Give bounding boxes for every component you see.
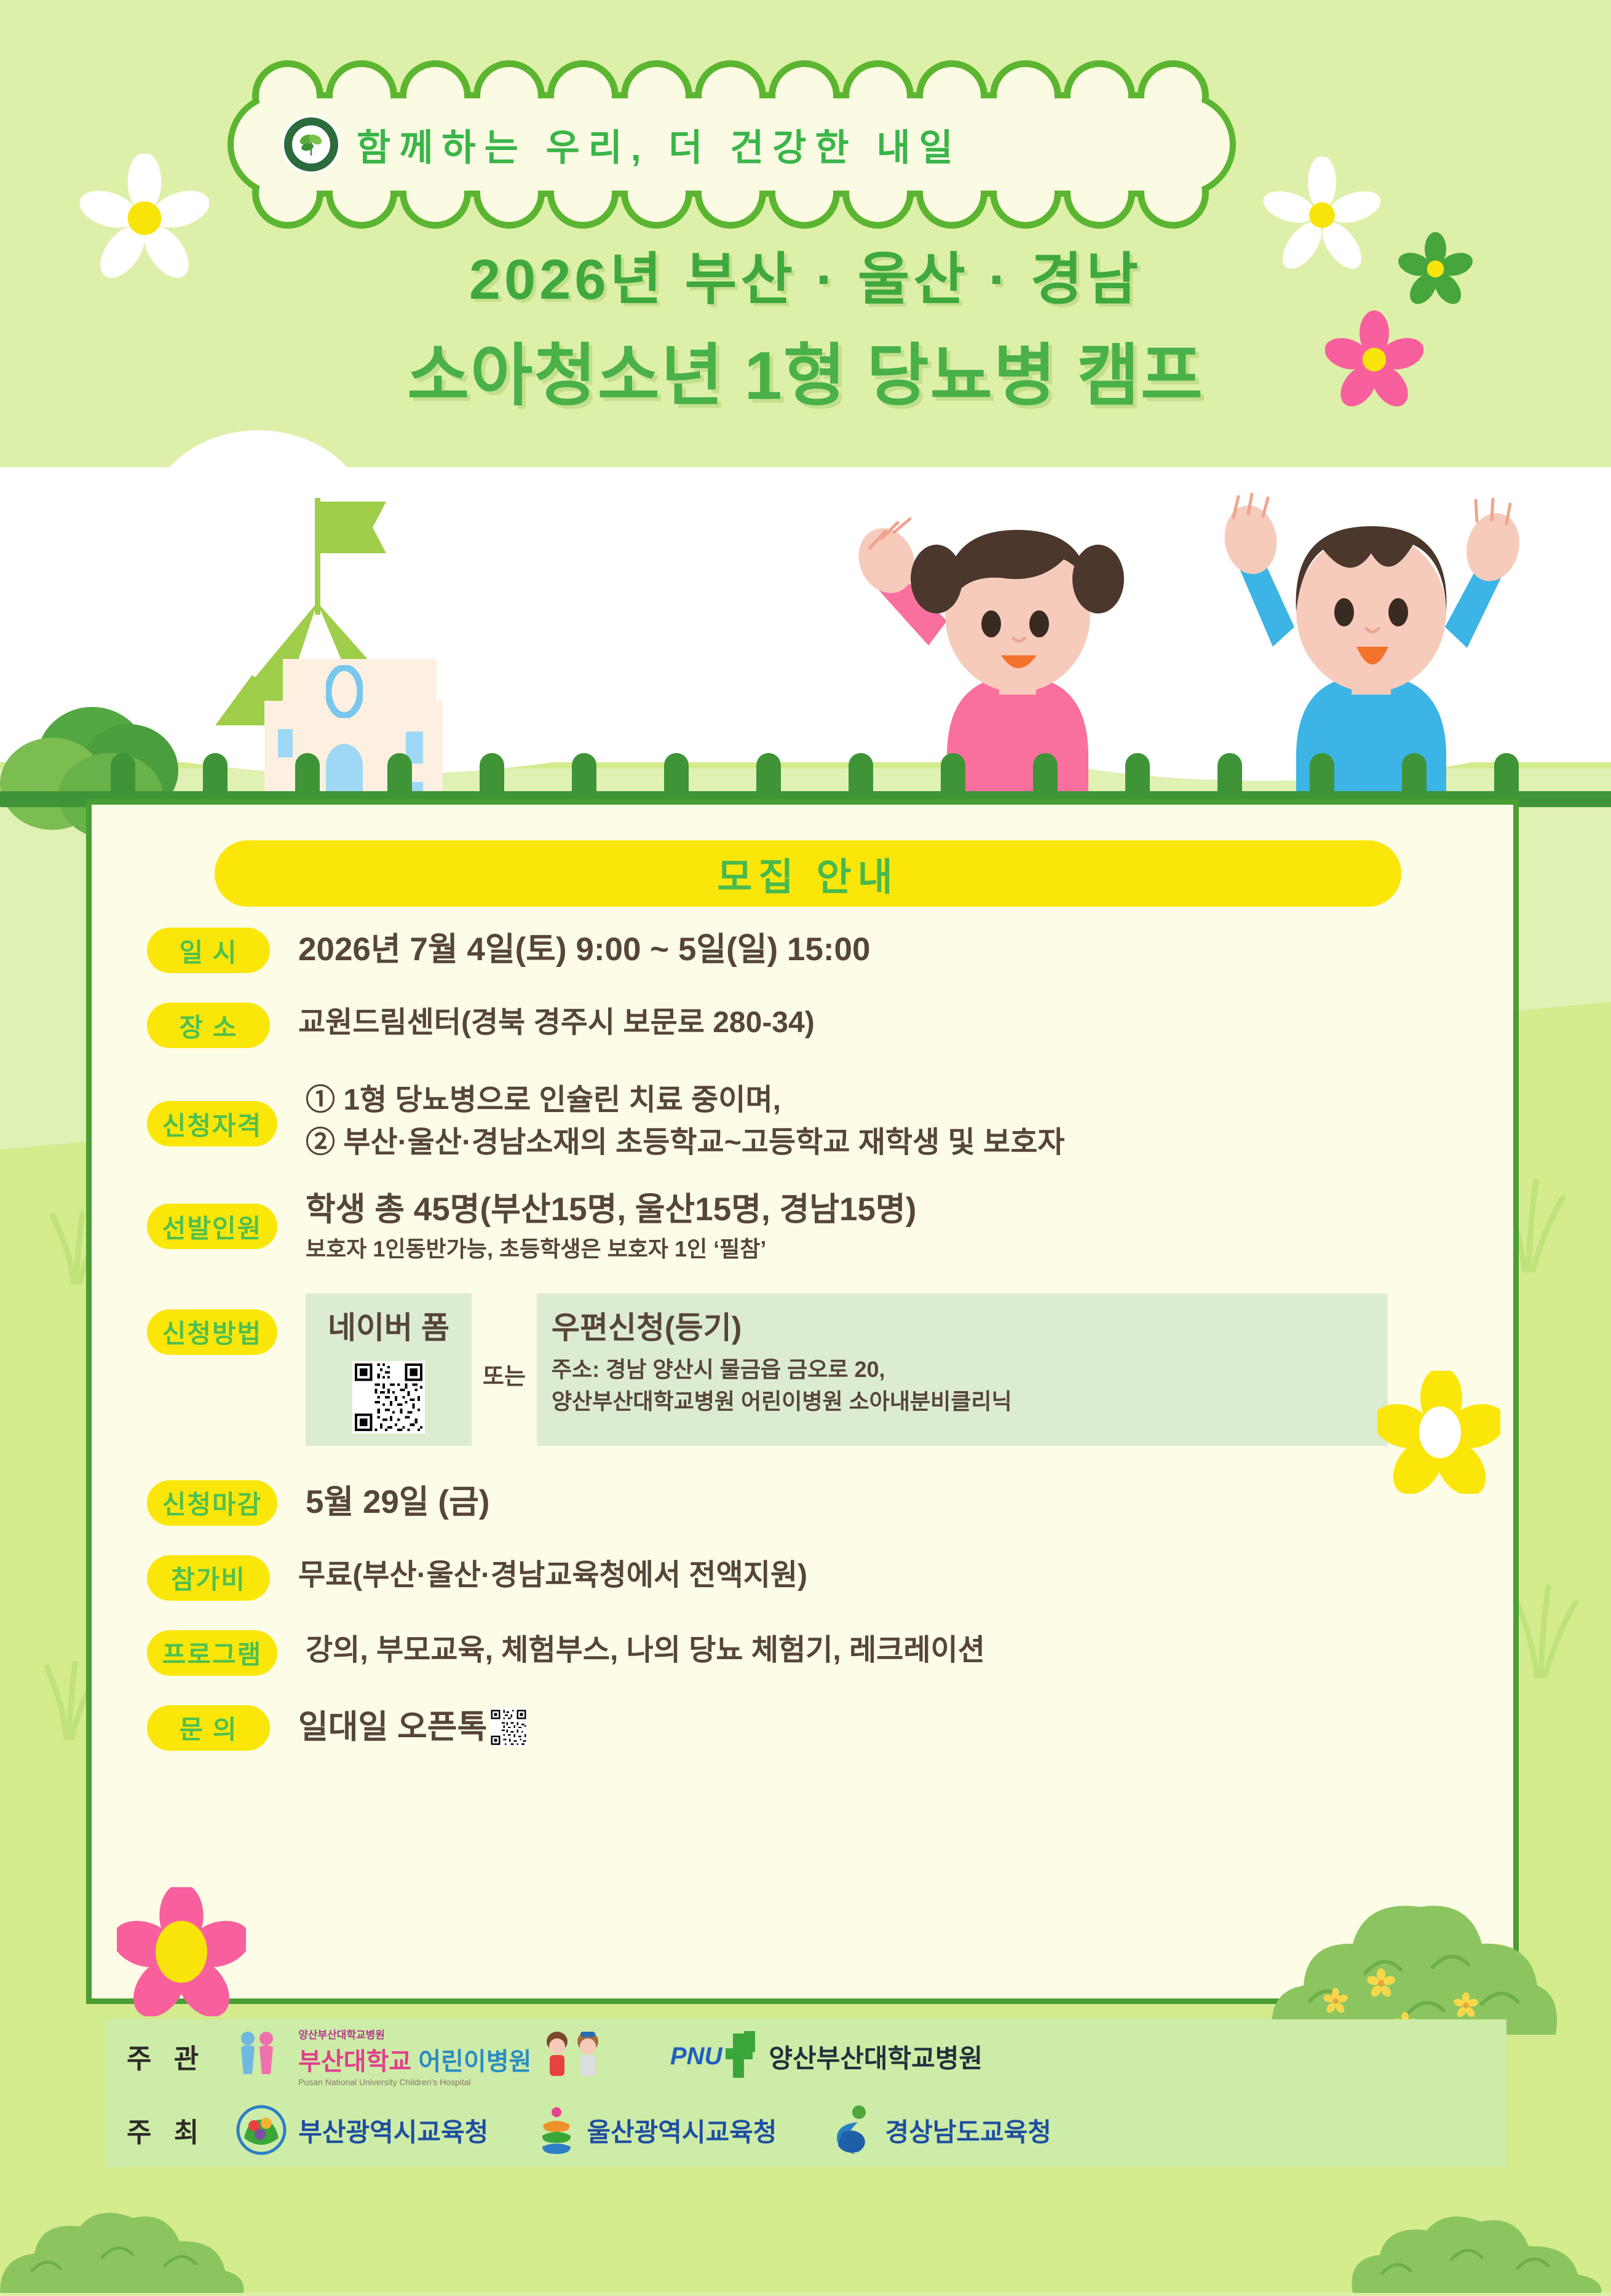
value-inquiry: 일대일 오픈톡 <box>298 1708 487 1748</box>
slogan-banner: 함께하는 우리, 더 건강한 내일 <box>228 92 1236 197</box>
apply-option-mail: 우편신청(등기) 주소: 경남 양산시 물금읍 금오로 20, 양산부산대학교병… <box>537 1293 1388 1446</box>
row-fee: 참가비 무료(부산·울산·경남교육청에서 전액지원) <box>92 1555 1513 1601</box>
gyeongnam-edu-office-logo-icon <box>823 2104 876 2156</box>
naver-form-qr-icon[interactable] <box>352 1361 425 1434</box>
tag-deadline: 신청마감 <box>147 1480 277 1526</box>
info-rows: 일 시 2026년 7월 4일(토) 9:00 ~ 5일(일) 15:00 장 … <box>92 928 1513 1751</box>
row-quota: 선발인원 학생 총 45명(부산15명, 울산15명, 경남15명) 보호자 1… <box>92 1188 1513 1263</box>
organizer-name: 양산부산대학교병원 <box>769 2038 983 2075</box>
tag-program: 프로그램 <box>147 1630 277 1676</box>
title-line-1: 2026년 부산 · 울산 · 경남 <box>0 234 1611 315</box>
apply-address-line-1: 주소: 경남 양산시 물금읍 금오로 20, <box>552 1355 1369 1384</box>
value-quota-note: 보호자 1인동반가능, 초등학생은 보호자 1인 ‘필참’ <box>306 1235 1513 1264</box>
organizer-item: 양산부산대학교병원 부산대학교 어린이병원 Pusan National Uni… <box>233 2026 610 2087</box>
openchat-qr-icon[interactable] <box>489 1708 528 1746</box>
yellow-flower-icon <box>1377 1371 1500 1494</box>
host-name: 울산광역시교육청 <box>587 2112 777 2149</box>
poster-title: 2026년 부산 · 울산 · 경남 소아청소년 1형 당뇨병 캠프 <box>0 234 1611 419</box>
value-eligibility-1: ① 1형 당뇨병으로 인슐린 치료 중이며, <box>306 1083 1513 1119</box>
host-item: 부산광역시교육청 <box>233 2104 488 2156</box>
bush-bottom-left <box>0 2188 258 2293</box>
host-row: 주 최 부산광역시교육청 울산광역시교육청 <box>105 2093 1506 2167</box>
row-program: 프로그램 강의, 부모교육, 체험부스, 나의 당뇨 체험기, 레크레이션 <box>92 1630 1513 1676</box>
card-heading-text: 모집 안내 <box>717 846 898 901</box>
poster-canvas: 함께하는 우리, 더 건강한 내일 <box>0 0 1611 2292</box>
apply-address-line-2: 양산부산대학교병원 어린이병원 소아내분비클리닉 <box>552 1387 1369 1416</box>
apply-option-naver-label: 네이버 폼 <box>328 1303 449 1347</box>
bush-bottom-right <box>1340 2195 1611 2293</box>
value-fee: 무료(부산·울산·경남교육청에서 전액지원) <box>298 1558 1513 1594</box>
value-deadline: 5월 29일 (금) <box>306 1483 1513 1523</box>
row-location: 장 소 교원드림센터(경북 경주시 보문로 280-34) <box>92 1003 1513 1048</box>
svg-text:PNU: PNU <box>670 2043 723 2070</box>
organizer-label: 주 관 <box>127 2037 206 2076</box>
apply-option-mail-label: 우편신청(등기) <box>552 1303 1369 1347</box>
host-label: 주 최 <box>127 2110 206 2150</box>
mascot-children-icon <box>536 2028 610 2085</box>
pnu-childrens-hospital-logo-icon <box>233 2029 292 2085</box>
organizer-row: 주 관 양산부산대학교병원 부산대학교 어린이병원 Pusan National… <box>105 2019 1506 2093</box>
title-line-2: 소아청소년 1형 당뇨병 캠프 <box>0 320 1611 419</box>
tag-quota: 선발인원 <box>147 1204 277 1249</box>
ulsan-edu-office-logo-icon <box>535 2104 578 2156</box>
row-apply-method: 신청방법 네이버 폼 <box>92 1293 1513 1446</box>
row-deadline: 신청마감 5월 29일 (금) <box>92 1480 1513 1526</box>
value-eligibility-2: ② 부산·울산·경남소재의 초등학교~고등학교 재학생 및 보호자 <box>306 1125 1513 1161</box>
tag-inquiry: 문 의 <box>147 1705 270 1751</box>
busan-edu-office-logo-icon <box>233 2104 290 2156</box>
camp-logo-icon <box>282 115 341 174</box>
apply-conjunction: 또는 <box>472 1347 537 1391</box>
bush-right <box>1254 1875 1562 2035</box>
tag-eligibility: 신청자격 <box>147 1101 277 1146</box>
tag-fee: 참가비 <box>147 1555 270 1601</box>
slogan-text: 함께하는 우리, 더 건강한 내일 <box>357 118 962 172</box>
organizer-item: PNU 양산부산대학교병원 <box>669 2030 983 2083</box>
value-program: 강의, 부모교육, 체험부스, 나의 당뇨 체험기, 레크레이션 <box>306 1633 1513 1669</box>
value-location: 교원드림센터(경북 경주시 보문로 280-34) <box>298 1005 1513 1041</box>
info-card: 모집 안내 일 시 2026년 7월 4일(토) 9:00 ~ 5일(일) 15… <box>86 799 1519 2004</box>
row-eligibility: 신청자격 ① 1형 당뇨병으로 인슐린 치료 중이며, ② 부산·울산·경남소재… <box>92 1080 1513 1161</box>
card-heading: 모집 안내 <box>215 840 1401 907</box>
row-inquiry: 문 의 일대일 오픈톡 <box>92 1705 1513 1751</box>
host-item: 울산광역시교육청 <box>535 2104 777 2156</box>
apply-option-naver[interactable]: 네이버 폼 <box>306 1293 472 1446</box>
value-quota: 학생 총 45명(부산15명, 울산15명, 경남15명) <box>306 1190 1513 1230</box>
row-datetime: 일 시 2026년 7월 4일(토) 9:00 ~ 5일(일) 15:00 <box>92 928 1513 973</box>
tag-apply-method: 신청방법 <box>147 1309 277 1355</box>
sponsor-footer: 주 관 양산부산대학교병원 부산대학교 어린이병원 Pusan National… <box>105 2019 1506 2167</box>
host-item: 경상남도교육청 <box>823 2104 1051 2156</box>
pink-flower-inquiry-icon <box>117 1887 246 2016</box>
host-name: 경상남도교육청 <box>885 2112 1051 2149</box>
tag-datetime: 일 시 <box>147 928 270 973</box>
tag-location: 장 소 <box>147 1003 270 1048</box>
pnuh-logo-icon: PNU <box>669 2030 760 2083</box>
value-datetime: 2026년 7월 4일(토) 9:00 ~ 5일(일) 15:00 <box>298 930 1513 970</box>
host-name: 부산광역시교육청 <box>298 2112 488 2149</box>
